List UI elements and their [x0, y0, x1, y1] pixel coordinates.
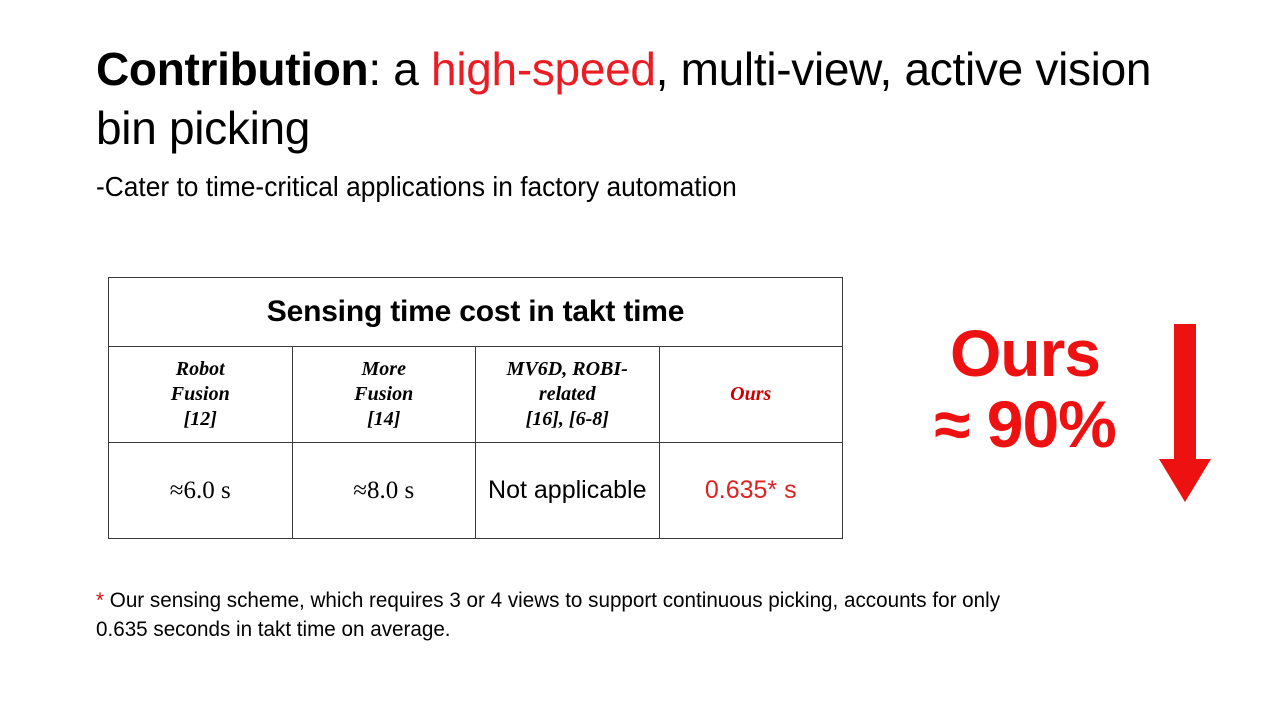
- footnote: * Our sensing scheme, which requires 3 o…: [96, 586, 1046, 644]
- column-header-line: [12]: [109, 407, 292, 432]
- table-header-row: Robot Fusion [12] More Fusion [14] MV6D,…: [109, 347, 843, 443]
- column-header-ours: Ours: [659, 347, 843, 443]
- column-header-mv6d-robi: MV6D, ROBI- related [16], [6-8]: [476, 347, 660, 443]
- callout-line-2: ≈ 90%: [905, 389, 1145, 460]
- page-title: Contribution: a high-speed, multi-view, …: [96, 40, 1196, 158]
- sensing-time-table: Sensing time cost in takt time Robot Fus…: [108, 277, 843, 539]
- column-header-more-fusion: More Fusion [14]: [292, 347, 476, 443]
- title-accent: high-speed: [431, 43, 656, 95]
- column-header-line: More: [293, 357, 476, 382]
- column-header-line: [16], [6-8]: [476, 407, 659, 432]
- table-title-row: Sensing time cost in takt time: [109, 278, 843, 347]
- table-row: ≈6.0 s ≈8.0 s Not applicable 0.635* s: [109, 443, 843, 539]
- improvement-callout: Ours ≈ 90%: [905, 318, 1205, 518]
- table-title: Sensing time cost in takt time: [109, 278, 843, 347]
- cell-robot-fusion-value: ≈6.0 s: [109, 443, 293, 539]
- column-header-line: Robot: [109, 357, 292, 382]
- down-arrow-icon: [1155, 324, 1215, 504]
- column-header-line: Fusion: [293, 382, 476, 407]
- callout-line-1: Ours: [905, 318, 1145, 389]
- title-after-lead: : a: [368, 43, 431, 95]
- title-lead: Contribution: [96, 43, 368, 95]
- cell-mv6d-robi-value: Not applicable: [476, 443, 660, 539]
- footnote-text: Our sensing scheme, which requires 3 or …: [96, 588, 1000, 641]
- column-header-line: [14]: [293, 407, 476, 432]
- cell-ours-value: 0.635* s: [659, 443, 843, 539]
- column-header-robot-fusion: Robot Fusion [12]: [109, 347, 293, 443]
- cell-more-fusion-value: ≈8.0 s: [292, 443, 476, 539]
- column-header-line: MV6D, ROBI-: [476, 357, 659, 382]
- subtitle: -Cater to time-critical applications in …: [96, 170, 1130, 204]
- column-header-line: related: [476, 382, 659, 407]
- cost-table-container: Sensing time cost in takt time Robot Fus…: [108, 277, 843, 539]
- column-header-line: Fusion: [109, 382, 292, 407]
- callout-text: Ours ≈ 90%: [905, 318, 1145, 461]
